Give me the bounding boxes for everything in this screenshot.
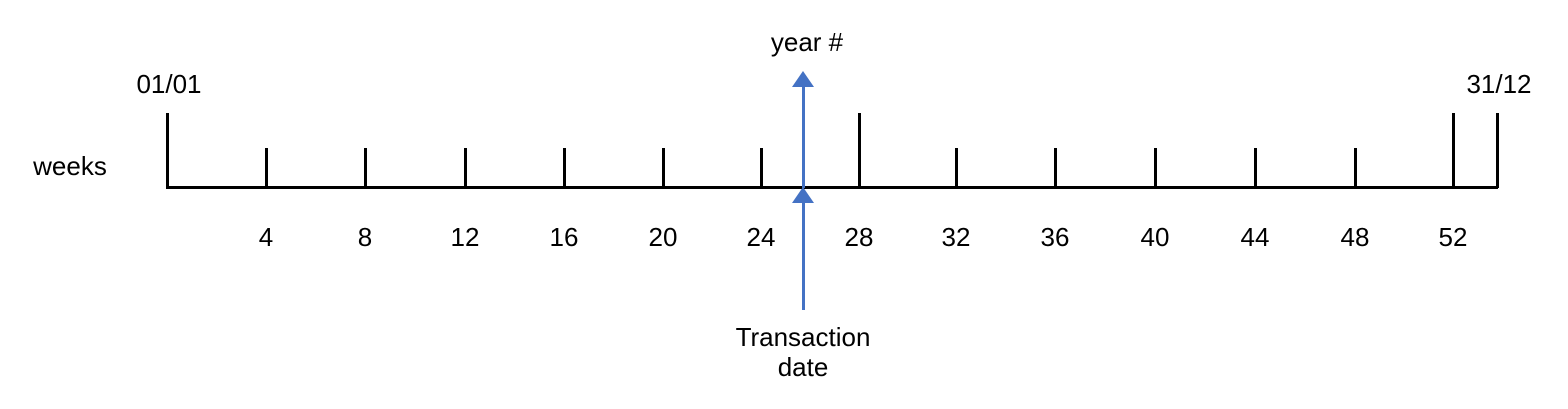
tick-mark-end (1496, 113, 1499, 188)
tick-label-week-16: 16 (524, 222, 604, 253)
year-number-label: year # (737, 28, 877, 58)
tick-mark-week-48 (1354, 148, 1357, 188)
tick-mark-week-12 (464, 148, 467, 188)
transaction-marker-upper-stem (802, 84, 805, 188)
tick-label-week-28: 28 (819, 222, 899, 253)
tick-label-week-12: 12 (425, 222, 505, 253)
transaction-marker-upper-arrowhead-icon (792, 71, 814, 87)
range-start-label: 01/01 (99, 70, 239, 100)
tick-mark-week-32 (955, 148, 958, 188)
tick-mark-start (166, 113, 169, 188)
tick-label-week-20: 20 (623, 222, 703, 253)
tick-label-week-48: 48 (1315, 222, 1395, 253)
tick-mark-week-24 (760, 148, 763, 188)
transaction-date-label: Transaction date (673, 323, 933, 383)
tick-mark-week-4 (265, 148, 268, 188)
transaction-marker-lower-arrowhead-icon (792, 187, 814, 203)
tick-mark-week-52 (1452, 113, 1455, 188)
tick-mark-week-8 (364, 148, 367, 188)
tick-label-week-44: 44 (1215, 222, 1295, 253)
tick-label-week-36: 36 (1015, 222, 1095, 253)
tick-mark-week-20 (662, 148, 665, 188)
tick-label-week-4: 4 (226, 222, 306, 253)
tick-mark-week-28 (858, 113, 861, 188)
tick-label-week-8: 8 (325, 222, 405, 253)
transaction-date-label-line1: Transaction (673, 323, 933, 353)
tick-label-week-24: 24 (721, 222, 801, 253)
tick-label-week-32: 32 (916, 222, 996, 253)
transaction-date-label-line2: date (673, 353, 933, 383)
timeline-diagram: weeks 01/01 31/12 year # Transaction dat… (0, 0, 1568, 409)
tick-mark-week-16 (563, 148, 566, 188)
axis-label-weeks: weeks (0, 152, 140, 182)
tick-mark-week-44 (1254, 148, 1257, 188)
transaction-marker-lower-stem (802, 190, 805, 310)
range-end-label: 31/12 (1429, 70, 1568, 100)
tick-label-week-40: 40 (1115, 222, 1195, 253)
tick-mark-week-36 (1054, 148, 1057, 188)
tick-mark-week-40 (1154, 148, 1157, 188)
tick-label-week-52: 52 (1413, 222, 1493, 253)
